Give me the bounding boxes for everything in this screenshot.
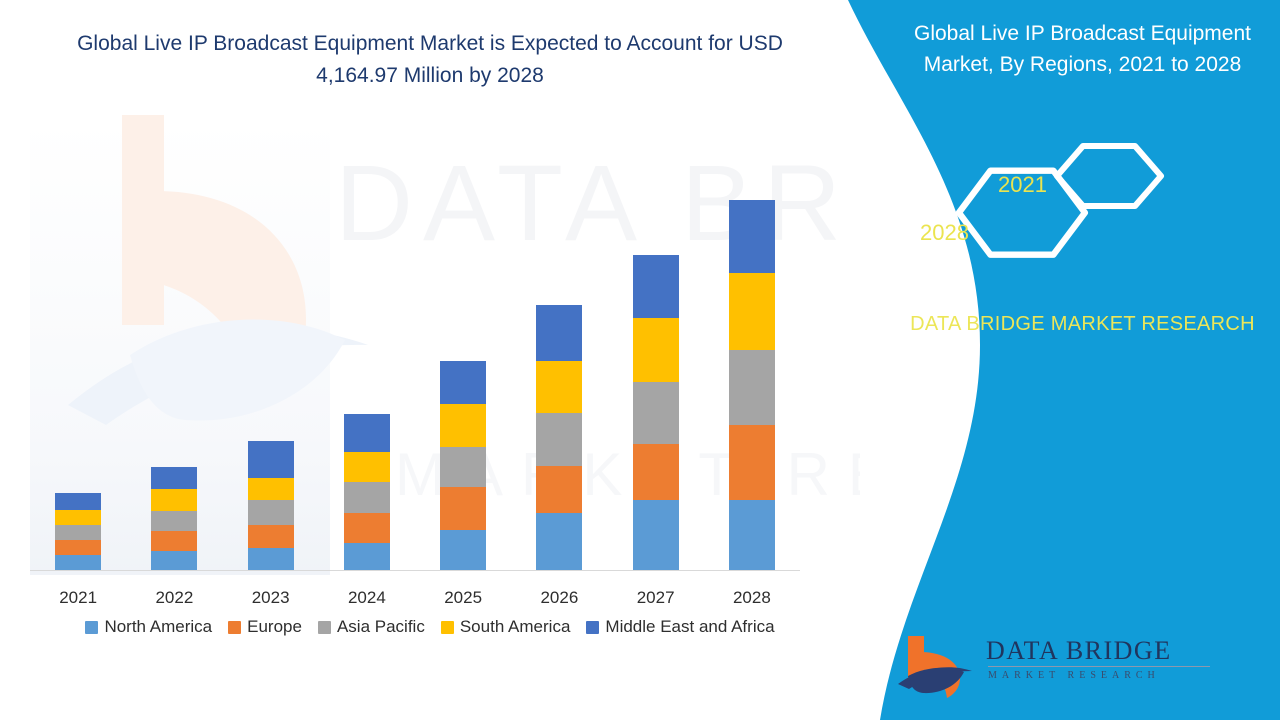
legend-label: North America (104, 617, 212, 637)
legend-item[interactable]: Europe (228, 617, 302, 637)
bar-segment[interactable] (344, 482, 390, 513)
bar-segment[interactable] (248, 441, 294, 478)
legend-swatch-icon (441, 621, 454, 634)
legend-swatch-icon (85, 621, 98, 634)
x-axis-tick-label: 2023 (223, 588, 319, 608)
legend-label: Middle East and Africa (605, 617, 774, 637)
chart-pane: DATA BRIDGE MARKET RESEARCH Global Live … (0, 0, 860, 720)
bar-group (30, 130, 800, 570)
bar-column (30, 130, 126, 570)
brand-panel: Global Live IP Broadcast Equipment Marke… (840, 0, 1280, 720)
bar-segment[interactable] (633, 444, 679, 500)
bar-segment[interactable] (55, 555, 101, 570)
legend-item[interactable]: Middle East and Africa (586, 617, 774, 637)
legend-label: Europe (247, 617, 302, 637)
bar-segment[interactable] (440, 530, 486, 570)
bar-segment[interactable] (440, 447, 486, 487)
bar-segment[interactable] (729, 273, 775, 350)
bar-segment[interactable] (344, 543, 390, 570)
bar-segment[interactable] (633, 382, 679, 444)
logo-divider (988, 666, 1210, 667)
hexagon-2028-label: 2028 (920, 220, 969, 246)
stacked-bar[interactable] (633, 255, 679, 570)
bar-column (511, 130, 607, 570)
bar-column (223, 130, 319, 570)
stacked-bar[interactable] (151, 467, 197, 570)
stacked-bar[interactable] (344, 414, 390, 570)
bar-segment[interactable] (151, 551, 197, 570)
bar-segment[interactable] (536, 361, 582, 413)
bar-segment[interactable] (151, 467, 197, 489)
bar-segment[interactable] (633, 318, 679, 382)
bar-segment[interactable] (536, 413, 582, 466)
stacked-bar[interactable] (536, 305, 582, 570)
x-axis-tick-label: 2021 (30, 588, 126, 608)
plot-area (0, 0, 860, 600)
bar-segment[interactable] (151, 531, 197, 551)
x-axis-tick-label: 2028 (704, 588, 800, 608)
hexagon-2021-icon (1057, 146, 1161, 206)
panel-title: Global Live IP Broadcast Equipment Marke… (900, 18, 1265, 80)
bar-segment[interactable] (151, 511, 197, 531)
bar-segment[interactable] (440, 404, 486, 447)
bar-segment[interactable] (344, 452, 390, 482)
bar-column (608, 130, 704, 570)
brand-name: DATA BRIDGE MARKET RESEARCH (900, 310, 1265, 339)
databridge-mark-icon (898, 632, 978, 702)
bar-segment[interactable] (55, 493, 101, 510)
bar-segment[interactable] (440, 487, 486, 530)
hexagon-group (940, 138, 1200, 283)
bar-segment[interactable] (536, 466, 582, 513)
hexagon-2021-label: 2021 (998, 172, 1047, 198)
bar-segment[interactable] (729, 350, 775, 425)
legend-label: South America (460, 617, 571, 637)
bar-segment[interactable] (55, 540, 101, 555)
x-axis-tick-label: 2022 (126, 588, 222, 608)
legend-swatch-icon (586, 621, 599, 634)
bar-segment[interactable] (248, 548, 294, 570)
bar-column (126, 130, 222, 570)
bar-segment[interactable] (55, 510, 101, 525)
legend-item[interactable]: South America (441, 617, 571, 637)
bar-column (319, 130, 415, 570)
bar-segment[interactable] (536, 513, 582, 570)
bar-column (704, 130, 800, 570)
x-axis-tick-label: 2026 (511, 588, 607, 608)
chart-legend: North AmericaEuropeAsia PacificSouth Ame… (0, 617, 860, 637)
legend-swatch-icon (318, 621, 331, 634)
bar-segment[interactable] (151, 489, 197, 511)
x-axis-line (30, 570, 800, 571)
bar-segment[interactable] (248, 500, 294, 525)
legend-label: Asia Pacific (337, 617, 425, 637)
bar-segment[interactable] (248, 478, 294, 500)
x-axis-tick-label: 2024 (319, 588, 415, 608)
company-logo: DATA BRIDGE MARKET RESEARCH (898, 632, 1228, 704)
x-axis-tick-label: 2027 (608, 588, 704, 608)
stacked-bar[interactable] (729, 200, 775, 570)
legend-item[interactable]: Asia Pacific (318, 617, 425, 637)
logo-wordmark: DATA BRIDGE (986, 636, 1172, 666)
bar-column (415, 130, 511, 570)
bar-segment[interactable] (633, 500, 679, 570)
bar-segment[interactable] (729, 200, 775, 273)
bar-segment[interactable] (633, 255, 679, 318)
stacked-bar[interactable] (55, 493, 101, 570)
stacked-bar[interactable] (248, 441, 294, 570)
legend-item[interactable]: North America (85, 617, 212, 637)
x-axis-labels: 20212022202320242025202620272028 (30, 588, 800, 608)
bar-segment[interactable] (55, 525, 101, 540)
infographic-root: DATA BRIDGE MARKET RESEARCH Global Live … (0, 0, 1280, 720)
legend-swatch-icon (228, 621, 241, 634)
bar-segment[interactable] (440, 361, 486, 404)
bar-segment[interactable] (536, 305, 582, 361)
bar-segment[interactable] (729, 425, 775, 500)
bar-segment[interactable] (729, 500, 775, 570)
bar-segment[interactable] (344, 414, 390, 452)
stacked-bar[interactable] (440, 361, 486, 570)
x-axis-tick-label: 2025 (415, 588, 511, 608)
bar-segment[interactable] (344, 513, 390, 543)
logo-subtitle: MARKET RESEARCH (988, 670, 1160, 681)
bar-segment[interactable] (248, 525, 294, 548)
